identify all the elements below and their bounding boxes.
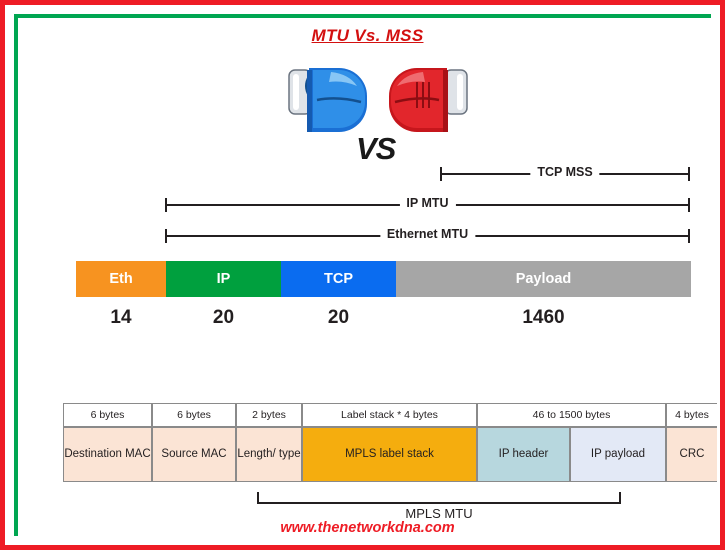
mpls-header-payload-bytes: 46 to 1500 bytes xyxy=(477,403,666,427)
mpls-header-label-stack-bytes: Label stack * 4 bytes xyxy=(302,403,477,427)
mpls-mtu-bracket xyxy=(257,492,621,504)
measure-cap-left xyxy=(165,198,167,212)
mpls-table-header-row: 6 bytes 6 bytes 2 bytes Label stack * 4 … xyxy=(63,403,673,427)
mpls-mtu-label: MPLS MTU xyxy=(257,506,621,521)
packet-size-payload: 1460 xyxy=(396,304,691,332)
measure-label-ethernet-mtu: Ethernet MTU xyxy=(380,227,475,241)
footer-website: www.thenetworkdna.com xyxy=(18,520,717,536)
bracket-tick-left xyxy=(257,492,259,504)
diagram-canvas: MTU Vs. MSS xyxy=(18,18,717,542)
mpls-cell-ip-payload: IP payload xyxy=(570,427,666,482)
measure-ip-mtu: IP MTU xyxy=(165,198,690,212)
mpls-header-crc-bytes: 4 bytes xyxy=(666,403,717,427)
vs-badge: VS xyxy=(356,131,395,167)
measure-label-tcp-mss: TCP MSS xyxy=(530,165,599,179)
measure-tcp-mss: TCP MSS xyxy=(440,167,690,181)
packet-segment-ip: IP xyxy=(166,261,281,297)
measure-cap-left xyxy=(440,167,442,181)
mpls-header-length-bytes: 2 bytes xyxy=(236,403,302,427)
mpls-header-src-bytes: 6 bytes xyxy=(152,403,236,427)
bracket-line xyxy=(257,502,621,504)
packet-segment-eth: Eth xyxy=(76,261,166,297)
page-title: MTU Vs. MSS xyxy=(18,26,717,46)
packet-segment-tcp: TCP xyxy=(281,261,396,297)
mpls-cell-source-mac: Source MAC xyxy=(152,427,236,482)
packet-size-tcp: 20 xyxy=(281,304,396,332)
packet-segment-payload: Payload xyxy=(396,261,691,297)
measure-label-ip-mtu: IP MTU xyxy=(399,196,455,210)
measure-cap-right xyxy=(688,167,690,181)
mpls-cell-destination-mac: Destination MAC xyxy=(63,427,152,482)
measure-ethernet-mtu: Ethernet MTU xyxy=(165,229,690,243)
mpls-table-body-row: Destination MAC Source MAC Length/ type … xyxy=(63,427,673,482)
mpls-cell-ip-header: IP header xyxy=(477,427,570,482)
measure-cap-right xyxy=(688,198,690,212)
mpls-header-dest-bytes: 6 bytes xyxy=(63,403,152,427)
packet-size-ip: 20 xyxy=(166,304,281,332)
measure-cap-left xyxy=(165,229,167,243)
boxing-glove-red-icon xyxy=(389,68,467,132)
poster-outer-border: MTU Vs. MSS xyxy=(0,0,725,550)
bracket-tick-right xyxy=(619,492,621,504)
mpls-cell-mpls-label-stack: MPLS label stack xyxy=(302,427,477,482)
boxing-glove-blue-icon xyxy=(289,68,367,132)
mpls-cell-crc: CRC xyxy=(666,427,717,482)
mpls-cell-length-type: Length/ type xyxy=(236,427,302,482)
measure-cap-right xyxy=(688,229,690,243)
packet-size-eth: 14 xyxy=(76,304,166,332)
